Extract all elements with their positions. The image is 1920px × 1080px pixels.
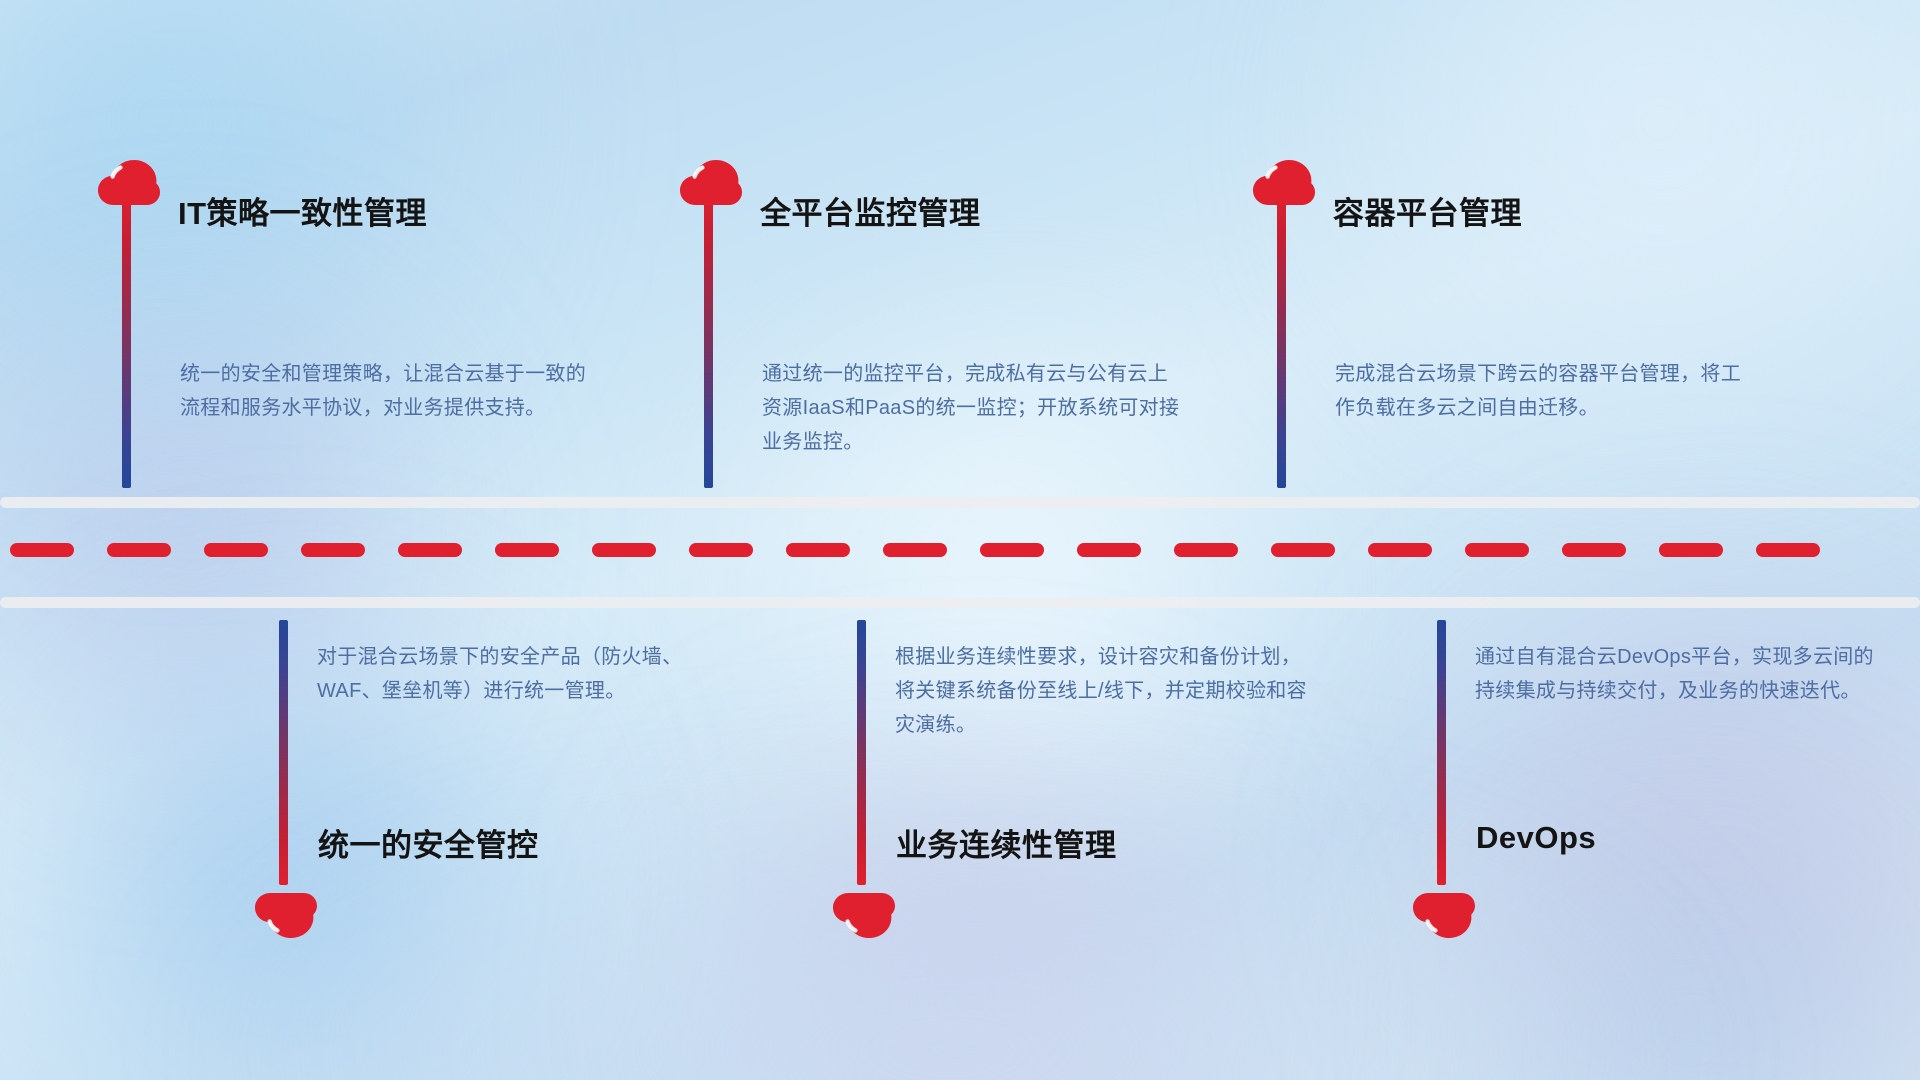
road-dash-segment — [1465, 543, 1529, 557]
cloud-icon — [98, 160, 160, 206]
cloud-icon — [1253, 160, 1315, 206]
feature-heading: 业务连续性管理 — [896, 820, 1117, 865]
road-dash-segment — [980, 543, 1044, 557]
feature-body: 对于混合云场景下的安全产品（防火墙、WAF、堡垒机等）进行统一管理。 — [317, 640, 737, 708]
road-dash-segment — [1174, 543, 1238, 557]
pin-stem — [1277, 188, 1286, 488]
feature-heading: 全平台监控管理 — [760, 188, 981, 233]
cloud-icon — [255, 892, 317, 938]
feature-heading: IT策略一致性管理 — [178, 188, 427, 233]
road-dash-segment — [592, 543, 656, 557]
feature-heading: DevOps — [1476, 820, 1596, 856]
road-dash-segment — [883, 543, 947, 557]
road-center-dashes — [0, 543, 1920, 557]
pin-stem — [1437, 620, 1446, 885]
road-dash-segment — [786, 543, 850, 557]
cloud-icon — [1413, 892, 1475, 938]
feature-heading: 统一的安全管控 — [318, 820, 539, 865]
road-dash-segment — [1271, 543, 1335, 557]
road-dash-segment — [1368, 543, 1432, 557]
feature-body: 通过统一的监控平台，完成私有云与公有云上资源IaaS和PaaS的统一监控；开放系… — [762, 357, 1182, 459]
pin-stem — [122, 188, 131, 488]
feature-body: 根据业务连续性要求，设计容灾和备份计划，将关键系统备份至线上/线下，并定期校验和… — [895, 640, 1315, 742]
road-dash-segment — [1756, 543, 1820, 557]
road-dash-segment — [1659, 543, 1723, 557]
road-edge-bottom — [0, 597, 1920, 608]
road-dash-segment — [204, 543, 268, 557]
road-dash-segment — [301, 543, 365, 557]
road-edge-top — [0, 497, 1920, 508]
road-dash-segment — [10, 543, 74, 557]
road-dash-segment — [1562, 543, 1626, 557]
feature-body: 完成混合云场景下跨云的容器平台管理，将工作负载在多云之间自由迁移。 — [1335, 357, 1755, 425]
road-dash-segment — [689, 543, 753, 557]
pin-stem — [279, 620, 288, 885]
road-dash-segment — [107, 543, 171, 557]
road-dash-segment — [1077, 543, 1141, 557]
feature-body: 通过自有混合云DevOps平台，实现多云间的持续集成与持续交付，及业务的快速迭代… — [1475, 640, 1875, 708]
road-dash-segment — [398, 543, 462, 557]
pin-stem — [857, 620, 866, 885]
cloud-icon — [680, 160, 742, 206]
feature-heading: 容器平台管理 — [1333, 188, 1522, 233]
cloud-icon — [833, 892, 895, 938]
road-dash-segment — [495, 543, 559, 557]
pin-stem — [704, 188, 713, 488]
feature-body: 统一的安全和管理策略，让混合云基于一致的流程和服务水平协议，对业务提供支持。 — [180, 357, 600, 425]
